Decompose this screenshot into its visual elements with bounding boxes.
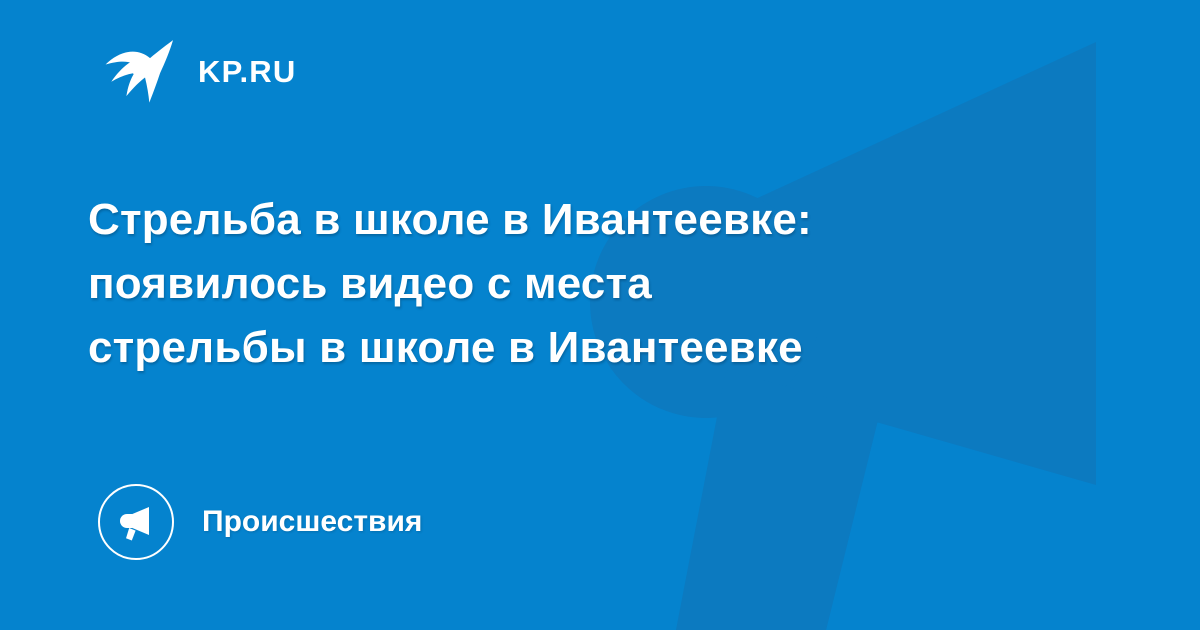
- headline-line-3: стрельбы в школе в Ивантеевке: [88, 316, 1048, 380]
- headline-line-1: Стрельба в школе в Ивантеевке:: [88, 188, 1048, 252]
- headline-line-2: появилось видео с места: [88, 252, 1048, 316]
- megaphone-icon: [116, 502, 156, 542]
- rubric-icon-circle: [98, 484, 174, 560]
- rubric-badge[interactable]: Происшествия: [98, 484, 422, 560]
- share-card: KP.RU Стрельба в школе в Ивантеевке: поя…: [0, 0, 1200, 630]
- swallow-bird-icon: [104, 38, 176, 104]
- page-title: Стрельба в школе в Ивантеевке: появилось…: [88, 188, 1048, 380]
- brand-label: KP.RU: [198, 56, 296, 87]
- site-header: KP.RU: [104, 38, 296, 104]
- rubric-label: Происшествия: [202, 507, 422, 537]
